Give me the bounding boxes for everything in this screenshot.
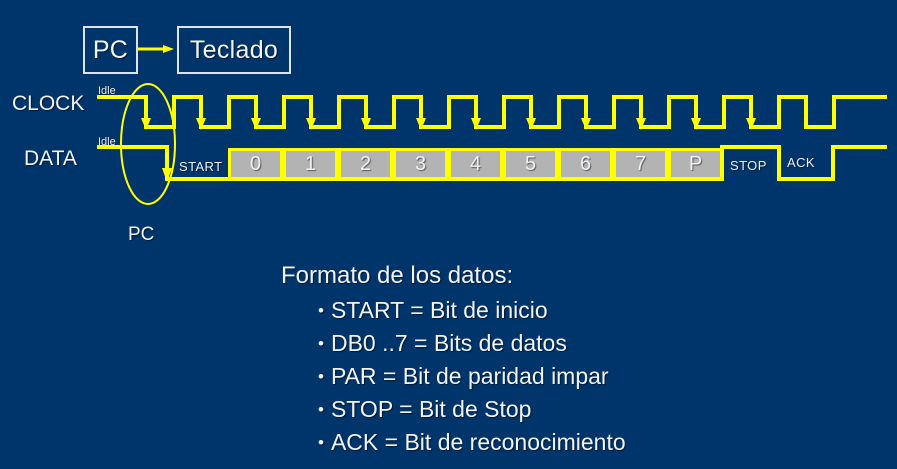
- data-bit-cell: 0: [228, 148, 283, 180]
- format-section: Formato de los datos: •START = Bit de in…: [281, 262, 881, 459]
- data-bit-label: 3: [415, 153, 426, 176]
- data-bit-label: 6: [580, 153, 591, 176]
- data-bit-cell: 4: [448, 148, 503, 180]
- data-bit-cell: 1: [283, 148, 338, 180]
- data-bit-label: 5: [525, 153, 536, 176]
- format-bullet-item: •START = Bit de inicio: [318, 294, 881, 327]
- format-bullet-item: •STOP = Bit de Stop: [318, 393, 881, 426]
- data-bit-cell: 3: [393, 148, 448, 180]
- frame-label-start: START: [179, 159, 222, 174]
- data-bit-label: P: [689, 153, 702, 176]
- bullet-icon: •: [318, 301, 324, 320]
- data-bit-label: 7: [635, 153, 646, 176]
- format-bullet-text: ACK = Bit de reconocimiento: [331, 429, 626, 455]
- format-bullet-text: PAR = Bit de paridad impar: [331, 363, 609, 389]
- bullet-icon: •: [318, 334, 324, 353]
- format-bullet-list: •START = Bit de inicio•DB0 ..7 = Bits de…: [281, 294, 881, 459]
- data-bit-cell: P: [668, 148, 723, 180]
- data-bit-label: 2: [360, 153, 371, 176]
- data-bit-cell: 5: [503, 148, 558, 180]
- clock-waveform: [97, 97, 887, 127]
- format-bullet-text: START = Bit de inicio: [331, 297, 548, 323]
- slide-canvas: PC Teclado CLOCK DATA Idle Idle: [0, 0, 897, 469]
- data-bit-label: 4: [470, 153, 481, 176]
- format-bullet-item: •ACK = Bit de reconocimiento: [318, 426, 881, 459]
- data-bit-cell: 6: [558, 148, 613, 180]
- format-title: Formato de los datos:: [281, 262, 881, 290]
- frame-label-stop: STOP: [730, 158, 767, 173]
- data-bit-label: 0: [250, 153, 261, 176]
- data-bit-cell: 7: [613, 148, 668, 180]
- format-bullet-item: •PAR = Bit de paridad impar: [318, 360, 881, 393]
- format-bullet-text: DB0 ..7 = Bits de datos: [331, 330, 567, 356]
- data-bit-cell: 2: [338, 148, 393, 180]
- timing-waveform: [0, 0, 897, 260]
- data-bit-label: 1: [305, 153, 316, 176]
- bullet-icon: •: [318, 400, 324, 419]
- annotation-label-pc: PC: [128, 224, 154, 246]
- bullet-icon: •: [318, 367, 324, 386]
- frame-label-ack: ACK: [787, 155, 815, 170]
- bullet-icon: •: [318, 433, 324, 452]
- format-bullet-item: •DB0 ..7 = Bits de datos: [318, 327, 881, 360]
- format-bullet-text: STOP = Bit de Stop: [331, 396, 532, 422]
